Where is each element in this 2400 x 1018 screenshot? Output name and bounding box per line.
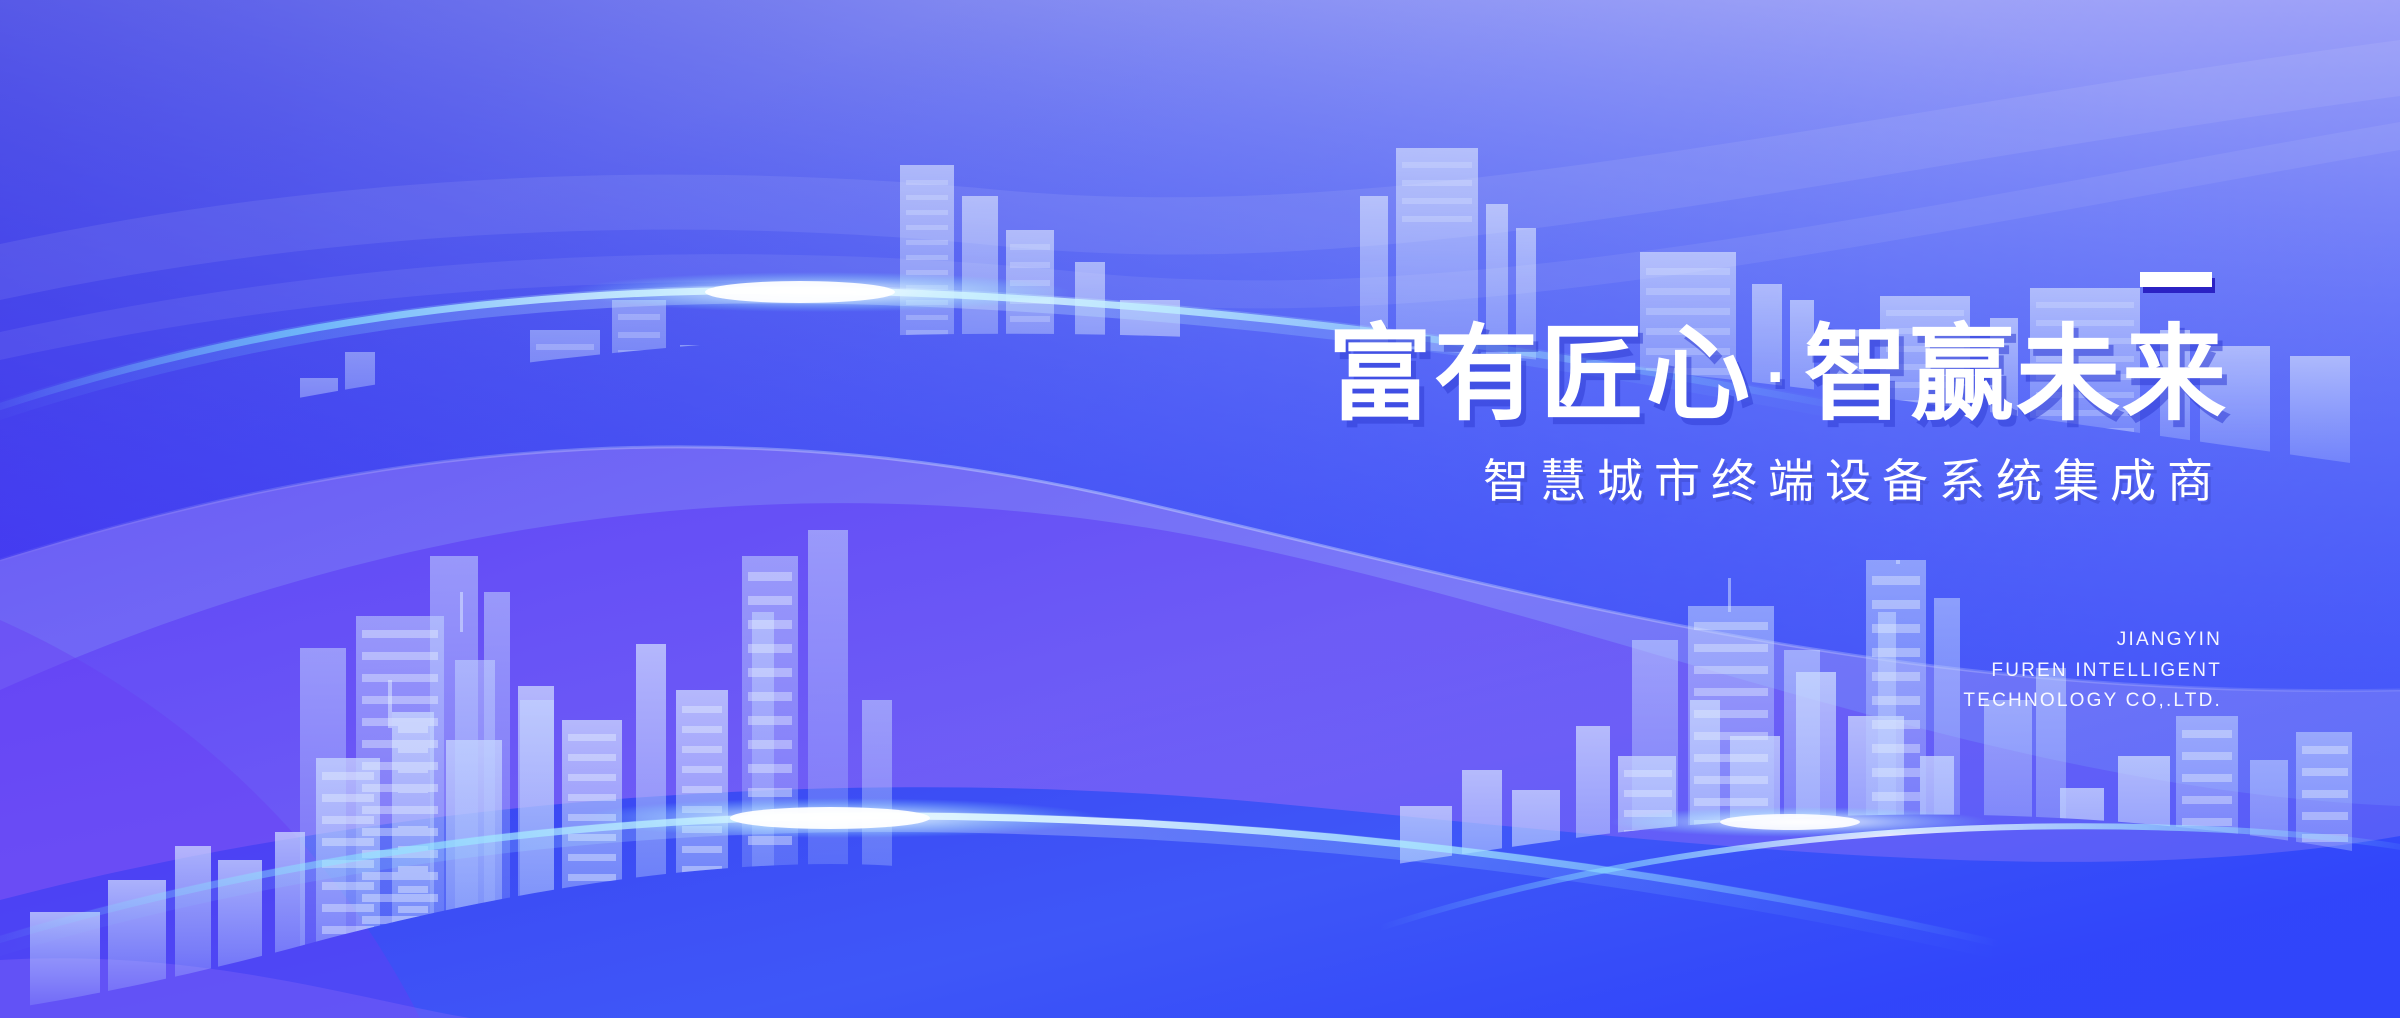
page-subtitle: 智慧城市终端设备系统集成商 <box>992 456 2226 507</box>
page-title: 富有匠心·智赢未来 <box>992 320 2232 430</box>
company-line-1: JIANGYIN <box>992 625 2222 656</box>
company-name-block: JIANGYIN FUREN INTELLIGENT TECHNOLOGY CO… <box>992 625 2222 717</box>
headline-block: 富有匠心·智赢未来 智慧城市终端设备系统集成商 JIANGYIN FUREN I… <box>992 250 2232 717</box>
company-line-3: TECHNOLOGY CO,.LTD. <box>992 686 2222 717</box>
headline-right: 智赢未来 <box>1804 317 2228 433</box>
banner-root: 富有匠心·智赢未来 智慧城市终端设备系统集成商 JIANGYIN FUREN I… <box>0 0 2400 1018</box>
company-line-2: FUREN INTELLIGENT <box>992 656 2222 687</box>
accent-dash-icon <box>2140 272 2212 287</box>
headline-separator-icon: · <box>1752 339 1804 413</box>
headline-left: 富有匠心 <box>1328 317 1752 433</box>
